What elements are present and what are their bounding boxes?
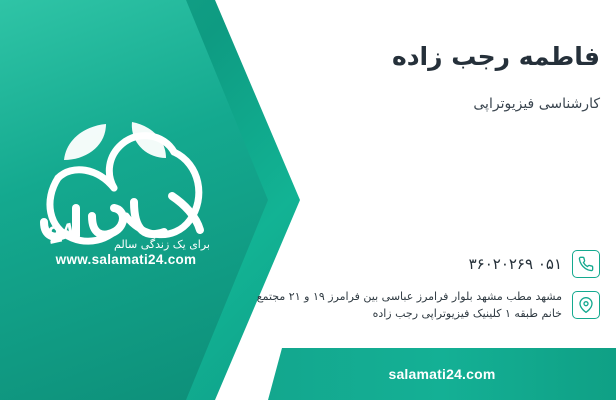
address-line-1: مشهد مطب مشهد بلوار فرامرز عباسی بین فرا… <box>257 288 562 305</box>
logo: 24 برای یک زندگی سالم www.salamati24.com <box>14 104 234 264</box>
person-role: کارشناسی فیزیوتراپی <box>473 96 600 112</box>
logo-website-url[interactable]: www.salamati24.com <box>22 252 230 267</box>
footer-bar: salamati24.com <box>268 348 616 400</box>
contact-row-phone: ۰۵۱ ۳۶۰۲۰۲۶۹ <box>469 250 600 278</box>
contact-row-address: مشهد مطب مشهد بلوار فرامرز عباسی بین فرا… <box>257 288 600 322</box>
card-content: فاطمه رجب زاده کارشناسی فیزیوتراپی ۰۵۱ ۳… <box>300 0 616 400</box>
location-pin-icon <box>572 291 600 319</box>
phone-number: ۰۵۱ ۳۶۰۲۰۲۶۹ <box>469 255 562 273</box>
person-name: فاطمه رجب زاده <box>392 42 600 71</box>
logo-tagline-text: برای یک زندگی سالم <box>114 238 210 251</box>
business-card: 24 برای یک زندگی سالم www.salamati24.com… <box>0 0 616 400</box>
footer-website[interactable]: salamati24.com <box>388 366 495 382</box>
address-line-2: خانم طبقه ۱ کلینیک فیزیوتراپی رجب زاده <box>257 305 562 322</box>
phone-icon <box>572 250 600 278</box>
address-text: مشهد مطب مشهد بلوار فرامرز عباسی بین فرا… <box>257 288 562 322</box>
